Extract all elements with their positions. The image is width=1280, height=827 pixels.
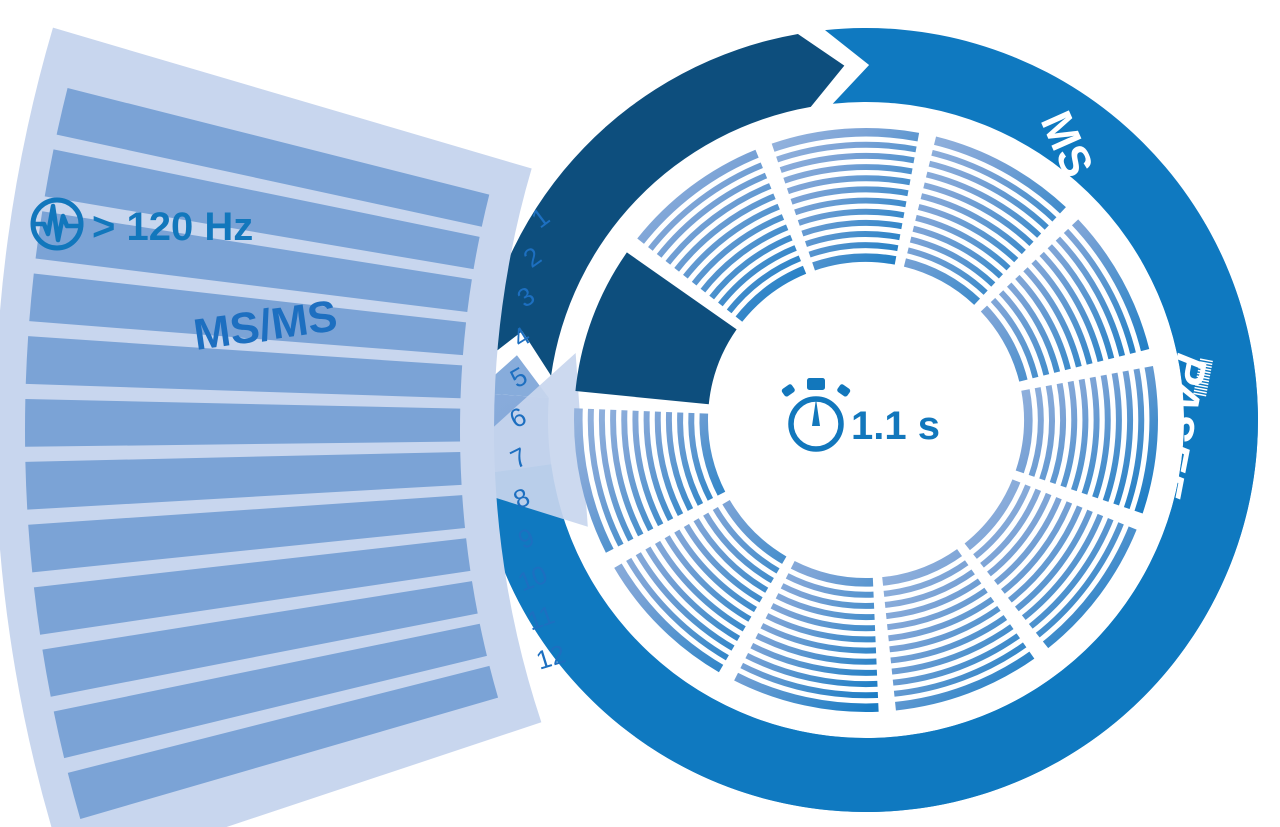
pasef-cycle-diagram: 123456789101112 > 120 Hz 1.1 s MS/MS MS … <box>0 0 1280 827</box>
cycle-time-annotation: 1.1 s <box>781 378 940 449</box>
cycle-time-label: 1.1 s <box>851 404 940 448</box>
rate-label: > 120 Hz <box>92 205 253 249</box>
stopwatch-icon <box>781 378 851 449</box>
magnified-fan: 123456789101112 <box>0 28 569 827</box>
diagram-canvas: 123456789101112 > 120 Hz 1.1 s MS/MS MS … <box>0 0 1280 827</box>
